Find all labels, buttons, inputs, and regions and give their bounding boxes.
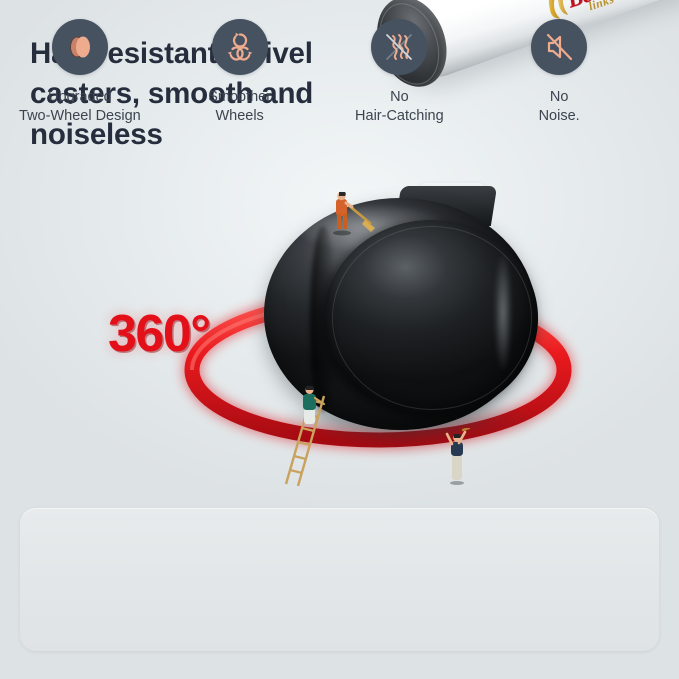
feature-label-line2: Hair-Catching — [355, 107, 444, 126]
feature-item-no-hair-catching[interactable]: No Hair-Catching — [323, 19, 475, 127]
feature-icon-wrapper — [52, 19, 108, 75]
feature-icon-wrapper — [371, 19, 427, 75]
feature-label-line1: Smoother — [208, 88, 271, 107]
feature-label: No Noise. — [539, 88, 580, 127]
feature-label-line2: Noise. — [539, 107, 580, 126]
feature-icon-wrapper — [531, 19, 587, 75]
mute-speaker-icon — [543, 31, 575, 63]
feature-label-line2: Wheels — [208, 107, 271, 126]
wheel-edge-highlight — [494, 252, 512, 372]
feature-label: Upgraded Two-Wheel Design — [19, 88, 141, 127]
miniature-figure-sweeper — [322, 189, 380, 237]
feature-icon-wrapper — [212, 19, 268, 75]
feature-item-two-wheel[interactable]: Upgraded Two-Wheel Design — [4, 19, 156, 127]
rotation-degree-label: 360° — [108, 304, 210, 364]
no-hair-strands-icon — [382, 30, 416, 64]
miniature-figure-on-ladder — [272, 378, 342, 486]
two-wheel-discs-icon — [64, 31, 96, 63]
three-rotating-arrows-icon — [223, 30, 257, 64]
feature-list: Upgraded Two-Wheel Design — [0, 0, 639, 143]
feature-label-line1: No — [355, 88, 444, 107]
feature-label: No Hair-Catching — [355, 88, 444, 127]
feature-label: Smoother Wheels — [208, 88, 271, 127]
product-feature-banner: Hair-resistant swivel casters, smooth an… — [0, 0, 679, 679]
miniature-figure-reaching — [440, 428, 474, 486]
feature-label-line1: No — [539, 88, 580, 107]
feature-panel — [20, 508, 659, 651]
feature-label-line1: Upgraded — [19, 88, 141, 107]
feature-item-smoother-wheels[interactable]: Smoother Wheels — [164, 19, 316, 127]
feature-item-no-noise[interactable]: No Noise. — [483, 19, 635, 127]
feature-label-line2: Two-Wheel Design — [19, 107, 141, 126]
